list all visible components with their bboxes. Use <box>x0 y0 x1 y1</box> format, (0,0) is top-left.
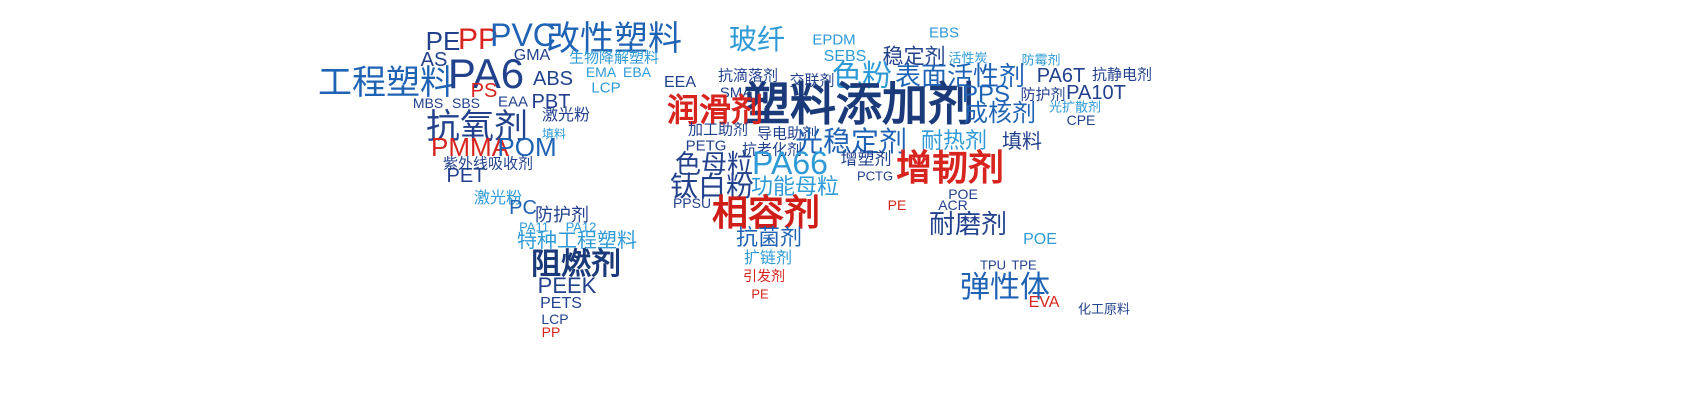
word-cloud-term[interactable]: PET <box>447 166 486 186</box>
word-cloud-term[interactable]: EBS <box>929 26 959 41</box>
word-cloud-term[interactable]: EPDM <box>812 33 855 48</box>
word-cloud-term[interactable]: 增塑剂 <box>841 151 892 168</box>
word-cloud-term[interactable]: PPSU <box>673 196 711 210</box>
word-cloud-term[interactable]: CPE <box>1067 113 1096 127</box>
word-cloud-term[interactable]: 化工原料 <box>1078 303 1130 316</box>
word-cloud-term[interactable]: PE <box>888 198 907 212</box>
word-cloud-term[interactable]: 玻纤 <box>729 26 785 54</box>
word-cloud-term[interactable]: EVA <box>1029 295 1060 311</box>
word-cloud-term[interactable]: PEEK <box>538 275 597 297</box>
word-cloud-term[interactable]: PE <box>751 288 768 301</box>
word-cloud-term[interactable]: 引发剂 <box>743 269 785 283</box>
word-cloud-term[interactable]: PCTG <box>857 170 893 183</box>
word-cloud-term[interactable]: EBA <box>623 65 651 79</box>
word-cloud-term[interactable]: 填料 <box>1002 132 1042 152</box>
word-cloud-term[interactable]: EEA <box>664 75 696 91</box>
word-cloud-term[interactable]: LCP <box>591 81 620 96</box>
word-cloud-term[interactable]: 耐磨剂 <box>929 211 1007 237</box>
word-cloud-term[interactable]: 塑料添加剂 <box>744 81 974 127</box>
word-cloud-term[interactable]: TPE <box>1011 259 1036 272</box>
word-cloud-term[interactable]: 抗静电剂 <box>1092 68 1152 83</box>
word-cloud-term[interactable]: EMA <box>586 65 616 79</box>
word-cloud-term[interactable]: TPU <box>980 259 1006 272</box>
word-cloud-term[interactable]: PP <box>542 325 561 339</box>
word-cloud-term[interactable]: POE <box>1023 232 1057 248</box>
word-cloud: PEPPPVC改性塑料玻纤EPDMEBSGMAAS生物降解塑料SEBS稳定剂活性… <box>0 0 1707 400</box>
word-cloud-term[interactable]: 成核剂 <box>964 102 1036 126</box>
word-cloud-term[interactable]: ABS <box>533 69 573 89</box>
word-cloud-term[interactable]: PC <box>509 198 537 218</box>
word-cloud-term[interactable]: 抗菌剂 <box>736 227 802 249</box>
word-cloud-term[interactable]: PETS <box>540 296 582 312</box>
word-cloud-term[interactable]: 激光粉 <box>542 108 590 124</box>
word-cloud-term[interactable]: 增韧剂 <box>896 150 1004 186</box>
word-cloud-term[interactable]: 扩链剂 <box>744 251 792 267</box>
word-cloud-term[interactable]: 加工助剂 <box>688 123 748 138</box>
